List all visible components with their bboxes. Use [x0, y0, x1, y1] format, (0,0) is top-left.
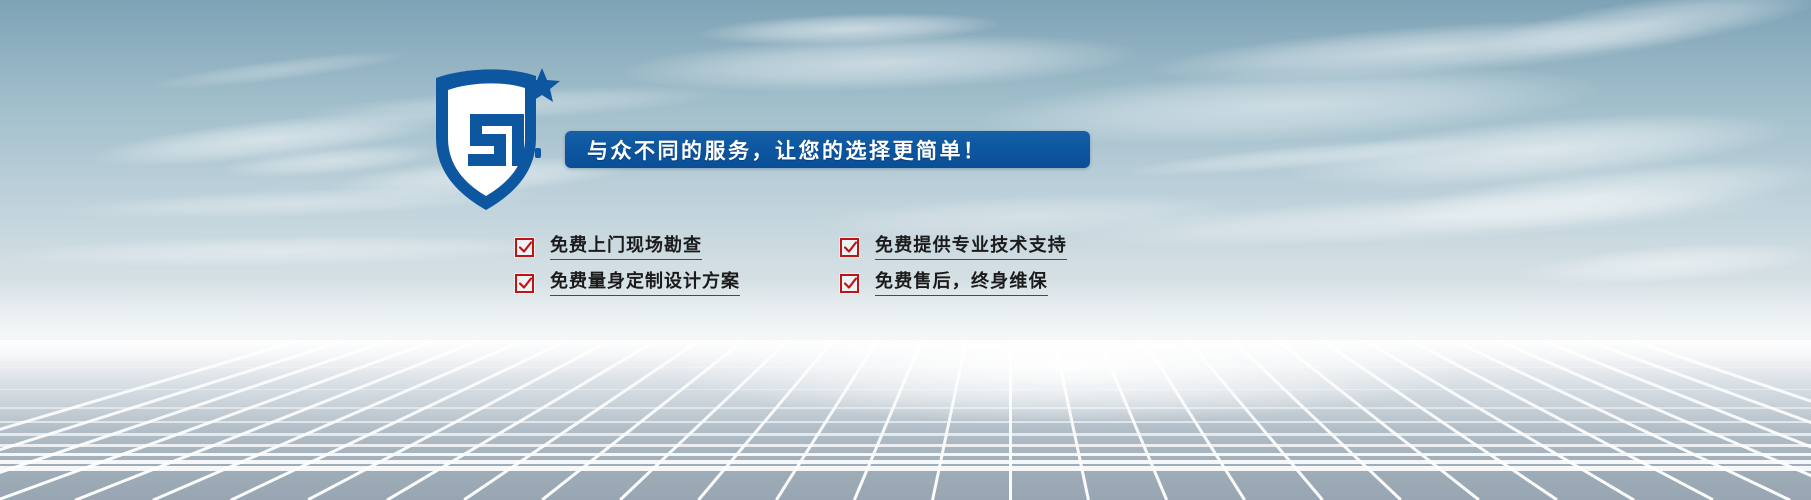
grid-line [0, 453, 1811, 457]
grid-line [0, 407, 1811, 409]
checkbox-checked-icon [515, 238, 534, 257]
grid-line [1009, 340, 1712, 500]
grid-line [1009, 340, 1323, 500]
feature-label: 免费提供专业技术支持 [875, 236, 1067, 260]
grid-line [1009, 340, 1811, 500]
grid-line [0, 340, 1010, 500]
feature-label: 免费量身定制设计方案 [550, 272, 740, 296]
feature-item[interactable]: 免费售后，终身维保 [840, 272, 1067, 296]
grid-line [1009, 340, 1811, 500]
cloud-streak [1288, 98, 1791, 201]
cloud-streak [1478, 0, 1811, 69]
shield-icon [424, 60, 564, 215]
sl-shield-logo [424, 60, 564, 215]
feature-item[interactable]: 免费量身定制设计方案 [515, 272, 740, 296]
grid-line [1009, 340, 1168, 500]
feature-list: 免费上门现场勘查 免费量身定制设计方案 免费提供专业技术支持 免费售后， [515, 236, 1235, 306]
feature-item[interactable]: 免费提供专业技术支持 [840, 236, 1067, 260]
grid-line [229, 340, 1010, 500]
checkbox-checked-icon [515, 274, 534, 293]
grid-line [385, 340, 1011, 500]
slogan-text: 与众不同的服务，让您的选择更简单！ [587, 135, 987, 165]
grid-line [1009, 340, 1557, 500]
grid-line [697, 340, 1011, 500]
slogan-bar: 与众不同的服务，让您的选择更简单！ [565, 131, 1090, 168]
grid-line [931, 340, 1012, 500]
grid-line [1009, 340, 1479, 500]
cloud-streak [150, 44, 410, 96]
grid-line [853, 340, 1012, 500]
floor-glow [688, 340, 1449, 420]
perspective-grid-floor [0, 340, 1811, 500]
grid-line [1009, 340, 1246, 500]
grid-line [541, 340, 1011, 500]
grid-line [1009, 340, 1090, 500]
grid-line [619, 340, 1011, 500]
grid-horizontal-lines [0, 340, 1811, 500]
grid-line [0, 460, 1811, 464]
grid-line [775, 340, 1012, 500]
grid-line [0, 421, 1811, 423]
grid-line [1009, 340, 1811, 500]
grid-line [0, 340, 1011, 500]
grid-line [0, 466, 1811, 471]
grid-line [0, 340, 1010, 500]
cloud-streak [0, 231, 560, 271]
grid-line [1009, 340, 1635, 500]
grid-line [1009, 340, 1790, 500]
grid-line [0, 444, 1811, 447]
cloud-streak [700, 9, 1001, 49]
cloud-streak [219, 138, 440, 183]
grid-line [0, 389, 1811, 390]
cloud-streak [89, 101, 451, 176]
cloud-streak [619, 27, 1141, 99]
feature-column-right: 免费提供专业技术支持 免费售后，终身维保 [840, 236, 1067, 308]
grid-line [463, 340, 1011, 500]
grid-line [0, 367, 1811, 368]
grid-line [1010, 340, 1811, 500]
grid-vertical-lines [0, 340, 1811, 500]
cloud-streak [1149, 7, 1711, 94]
checkbox-checked-icon [840, 274, 859, 293]
feature-label: 免费售后，终身维保 [875, 272, 1048, 296]
cloud-streak [1120, 130, 1481, 183]
grid-line [1009, 340, 1012, 500]
feature-item[interactable]: 免费上门现场勘查 [515, 236, 740, 260]
grid-line [73, 340, 1010, 500]
feature-column-left: 免费上门现场勘查 免费量身定制设计方案 [515, 236, 740, 308]
grid-line [307, 340, 1010, 500]
grid-line [151, 340, 1010, 500]
grid-line [0, 433, 1811, 436]
grid-line [1009, 340, 1401, 500]
promo-banner: 与众不同的服务，让您的选择更简单！ 免费上门现场勘查 免费量身定制设计方案 [0, 0, 1811, 500]
grid-line [0, 340, 1010, 500]
feature-label: 免费上门现场勘查 [550, 236, 702, 260]
cloud-streak [1378, 147, 1811, 245]
checkbox-checked-icon [840, 238, 859, 257]
